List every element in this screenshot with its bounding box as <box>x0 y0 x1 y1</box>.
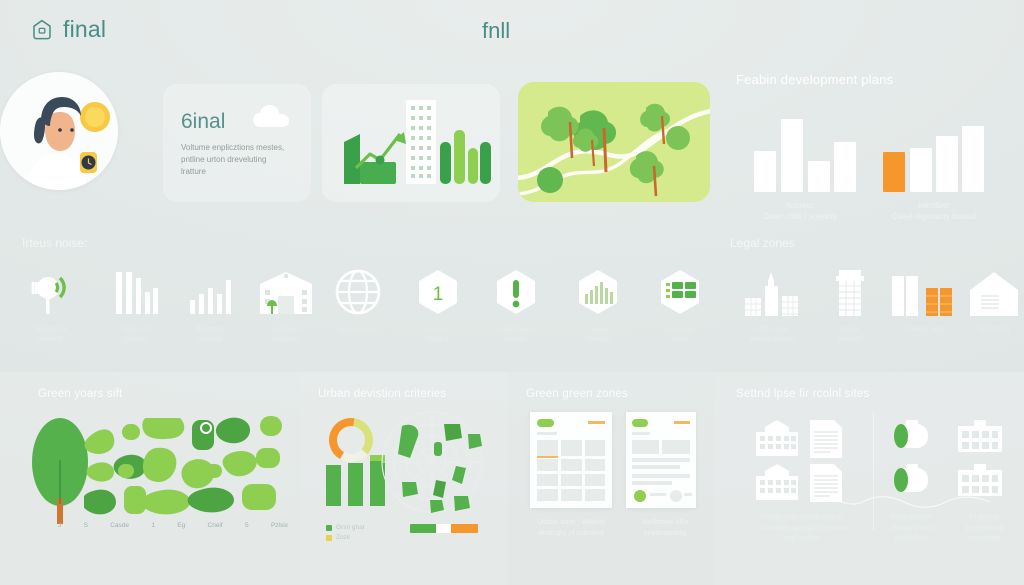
house-outline-icon <box>30 18 54 42</box>
bottom-row: Green yoars sift <box>0 372 1024 585</box>
brand-logo[interactable]: final <box>30 16 106 43</box>
bar-4 <box>883 152 905 192</box>
panel-title: Settnd lpse fir rcolnl sites <box>736 388 869 400</box>
cap-l1: Abollatica <box>8 324 92 334</box>
axis-label-0: J <box>58 522 61 529</box>
svg-text:1: 1 <box>433 284 444 305</box>
panel-title: Green yoars sift <box>38 388 122 400</box>
cap-l1: Usoc essi <box>730 324 814 334</box>
icon-cell-5[interactable]: 1 Smcen catfics <box>396 264 480 344</box>
icon-row-right-label: Legal zones <box>730 236 795 250</box>
brand-title: final <box>63 16 106 43</box>
bar-1 <box>781 119 803 192</box>
caption-line-1: Inicofizer <box>864 200 1004 211</box>
tank-vessel-icon[interactable] <box>890 420 932 450</box>
cap-l2: prurerts <box>8 334 92 344</box>
icon-caption: Aslogter ouafine <box>168 324 252 344</box>
progress-segment-white <box>436 524 451 533</box>
progress-bar <box>410 524 478 533</box>
person-avatar-illustration <box>0 72 118 190</box>
cap-l3: prochlings <box>874 533 950 544</box>
apartment-block-icon[interactable] <box>958 420 1002 452</box>
cap-l3: and rsolars <box>732 533 872 544</box>
park-trees-map-illustration <box>518 82 710 202</box>
cap-l1: Cuilary <box>556 324 640 334</box>
panel-title: Green green zones <box>526 388 628 400</box>
office-building-icon[interactable] <box>754 420 800 456</box>
cap-l2: cest <box>638 334 722 344</box>
icon-caption: Noiss sn polings <box>94 324 178 344</box>
infographic-root: final fnll <box>0 0 1024 585</box>
caption-line-2: Coren moli r sonning <box>736 211 864 222</box>
document-lines-icon[interactable] <box>810 420 842 458</box>
zone-caption: brisa tieviorn <box>808 324 892 344</box>
cap-l2: worpst carprs <box>730 334 814 344</box>
axis-label-3: 1 <box>151 522 155 529</box>
axis-label-6: 5 <box>245 522 249 529</box>
progress-segment-green <box>410 524 436 533</box>
cap-l1: Or tcstng <box>952 324 1024 334</box>
cloud-icon <box>251 104 295 128</box>
axis-label-7: Pzlsix <box>271 522 288 529</box>
house-bars-icon <box>952 264 1024 318</box>
document-form-icon[interactable] <box>626 412 696 508</box>
zone-caption: Usoc essi worpst carprs <box>730 324 814 344</box>
panel-site-plans: Settnd lpse fir rcolnl sites <box>714 372 1024 585</box>
icon-cell-7[interactable]: Cuilary clarego <box>556 264 640 344</box>
document-table-icon[interactable] <box>530 412 612 508</box>
axis-label-1: S <box>84 522 88 529</box>
icon-cell-2[interactable]: Aslogter ouafine <box>168 264 252 344</box>
icon-caption: Abollatica prurerts <box>8 324 92 344</box>
axis-label-2: Casde <box>110 522 129 529</box>
icon-cell-6[interactable]: Mechaliey porrigs <box>474 264 558 344</box>
cap-l1: Noiss sn <box>94 324 178 334</box>
panel-green-zones: Green green zones <box>508 372 714 585</box>
map-axis-labels: J S Casde 1 Eg Cneif 5 Pzlsix <box>58 522 288 529</box>
icon-caption: Cuilary clarego <box>556 324 640 344</box>
cap-l1: Elorrretige <box>316 324 400 334</box>
cap-l2: polings <box>94 334 178 344</box>
zone-cell-3[interactable]: Or tcstng <box>952 264 1024 334</box>
legend-item-1: Zozil <box>326 534 365 541</box>
hex-grid-icon <box>638 264 722 318</box>
legend-swatch <box>326 525 332 531</box>
hero-subtitle: Voltume enplicztions mestes, pntline urt… <box>181 142 293 178</box>
tree-icon <box>28 414 92 524</box>
cap-l1: Smcen <box>396 324 480 334</box>
panel-title: Urban devistion criteries <box>318 388 446 400</box>
cap-l2: tieviorn <box>808 334 892 344</box>
cap-l1: Irlsfloruns tilkx <box>620 517 710 528</box>
plans-caption-left: Aosrsec Coren moli r sonning <box>736 200 864 222</box>
panel-urban-deviation: Urban devistion criteries Grsn ghar <box>300 372 508 585</box>
zone-cell-0[interactable]: Usoc essi worpst carprs <box>730 264 814 344</box>
top-row: 6inal Voltume enplicztions mestes, pntli… <box>0 72 1024 212</box>
hero-card: 6inal Voltume enplicztions mestes, pntli… <box>163 84 311 202</box>
cap-l1: Aomtice <box>638 324 722 334</box>
green-parcel-map <box>84 404 284 522</box>
plans-chart: Feabin development plans Aosrsec Coren m… <box>728 72 1008 222</box>
cap-l2: Coumtaito qosrys of mstura <box>732 523 872 534</box>
axis-label-4: Eg <box>177 522 185 529</box>
hero-title: 6inal <box>181 110 225 134</box>
signal-broadcast-icon <box>8 264 92 318</box>
plans-title: Feabin development plans <box>736 72 893 87</box>
progress-segment-orange <box>451 524 478 533</box>
legend-item-0: Grsn ghar <box>326 524 365 531</box>
cap-l2: clarga snoss <box>874 523 950 534</box>
park-card <box>518 82 710 202</box>
p4-caption-middle: Meonlasrsie clarga snoss prochlings <box>874 512 950 544</box>
city-growth-chart-icon <box>322 84 500 202</box>
icon-row: Irteus noise: Legal zones Abollatica pru… <box>0 228 1024 360</box>
doc-caption-1: Irlsfloruns tilkx coysmarding <box>620 517 710 538</box>
icon-cell-8[interactable]: Aomtice cest <box>638 264 722 344</box>
caption-line-1: Aosrsec <box>736 200 864 211</box>
bar-rising-icon <box>168 264 252 318</box>
cap-l3: ciarsnoge <box>946 533 1022 544</box>
cap-l2: coysmarding <box>620 528 710 539</box>
avatar <box>0 72 118 190</box>
bar-6 <box>936 136 958 192</box>
legend-swatch <box>326 535 332 541</box>
icon-cell-0[interactable]: Abollatica prurerts <box>8 264 92 344</box>
document-lines-icon[interactable] <box>810 464 842 502</box>
header: final fnll <box>0 0 1024 62</box>
legend-label: Zozil <box>336 534 350 541</box>
mini-bar-1 <box>348 463 363 506</box>
cap-l2: porrigs <box>474 334 558 344</box>
tank-vessel-icon[interactable] <box>890 464 932 494</box>
caption-line-2: Caevl regoraisry bortosl <box>864 211 1004 222</box>
bar-2 <box>808 161 830 192</box>
legend-label: Grsn ghar <box>336 524 365 531</box>
cap-l1: Urbsin tone : Wiliindi <box>516 517 626 528</box>
plans-bars <box>728 112 1008 192</box>
icon-cell-4[interactable]: Elorrretige <box>316 264 400 334</box>
hex-number-one-icon: 1 <box>396 264 480 318</box>
mini-bar-0 <box>326 465 341 506</box>
doc-caption-0: Urbsin tone : Wiliindi destcgry of ruthe… <box>516 517 626 538</box>
plans-caption-right: Inicofizer Caevl regoraisry bortosl <box>864 200 1004 222</box>
cap-l1: Urtoan see sot ofroves sf <box>732 512 872 523</box>
bar-levels-icon <box>94 264 178 318</box>
bar-5 <box>910 148 932 192</box>
p4-caption-right: Cullsfeid oreeenhssd ciarsnoge <box>946 512 1022 544</box>
radial-district-map <box>372 404 492 520</box>
apartment-block-icon[interactable] <box>958 464 1002 496</box>
icon-caption: Aomtice cest <box>638 324 722 344</box>
panel-green-years: Green yoars sift <box>0 372 300 585</box>
icon-caption: Smcen catfics <box>396 324 480 344</box>
icon-caption: Mechaliey porrigs <box>474 324 558 344</box>
office-building-icon[interactable] <box>754 464 800 500</box>
cap-l1: Cullsfeid <box>946 512 1022 523</box>
skyline-icon <box>730 264 814 318</box>
bar-0 <box>754 151 776 192</box>
brand-alt-title: fnll <box>482 18 510 44</box>
cap-l2: oreeenhssd <box>946 523 1022 534</box>
tower-icon <box>808 264 892 318</box>
cap-l1: Mechaliey <box>474 324 558 334</box>
bar-7 <box>962 126 984 192</box>
icon-row-left-label: Irteus noise: <box>22 236 87 250</box>
icon-caption: Elorrretige <box>316 324 400 334</box>
cap-l1: Aslogter <box>168 324 252 334</box>
cap-l2: proljurts <box>244 334 328 344</box>
globe-icon <box>316 264 400 318</box>
cap-l2: destcgry of ruthelng <box>516 528 626 539</box>
cap-l2: ouafine <box>168 334 252 344</box>
cap-l2: catfics <box>396 334 480 344</box>
icon-cell-1[interactable]: Noiss sn polings <box>94 264 178 344</box>
chart-legend: Grsn ghar Zozil <box>326 524 365 544</box>
zone-caption: Or tcstng <box>952 324 1024 334</box>
bar-3 <box>834 142 856 192</box>
cap-l2: clarego <box>556 334 640 344</box>
cap-l1: brisa <box>808 324 892 334</box>
city-growth-card <box>322 84 500 202</box>
axis-label-5: Cneif <box>208 522 223 529</box>
hex-exclamation-icon <box>474 264 558 318</box>
cap-l1: Meonlasrsie <box>874 512 950 523</box>
hex-bars-icon <box>556 264 640 318</box>
zone-cell-1[interactable]: brisa tieviorn <box>808 264 892 344</box>
p4-caption-left: Urtoan see sot ofroves sf Coumtaito qosr… <box>732 512 872 544</box>
